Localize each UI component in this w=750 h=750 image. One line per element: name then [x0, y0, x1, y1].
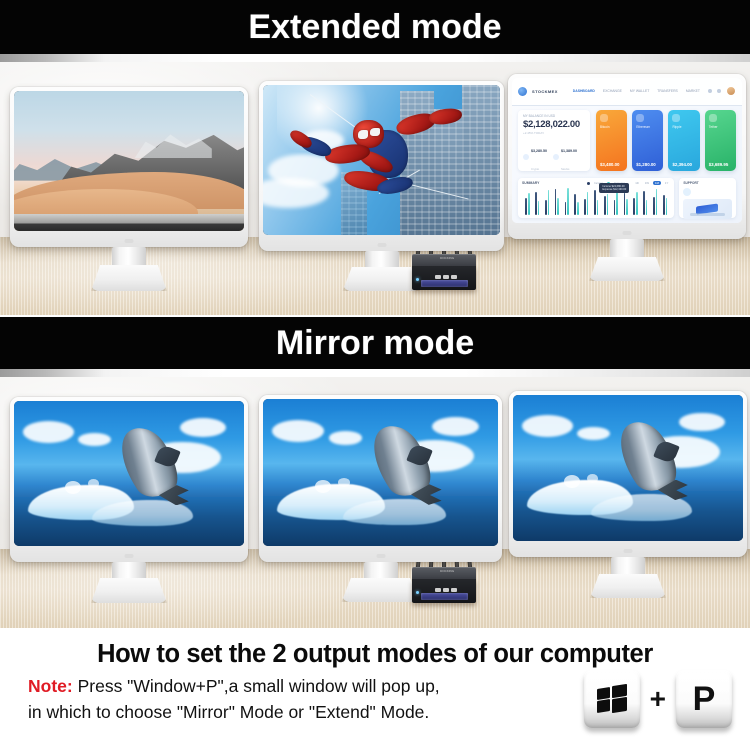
nav-item-dashboard[interactable]: DASHBOARD: [573, 89, 595, 93]
monitor-bezel: STOCKMEX DASHBOARD EXCHANGE MY WALLET TR…: [508, 74, 746, 239]
footer-note: Note: Press "Window+P",a small window wi…: [28, 676, 440, 723]
note-line-1: Note: Press "Window+P",a small window wi…: [28, 676, 440, 697]
monitor-screen-dashboard[interactable]: STOCKMEX DASHBOARD EXCHANGE MY WALLET TR…: [512, 78, 742, 223]
dashboard-nav[interactable]: DASHBOARD EXCHANGE MY WALLET TRANSFERS M…: [573, 89, 700, 93]
kvm-top-panel: DOCKING: [412, 567, 476, 579]
dashboard-topbar-icons[interactable]: [708, 86, 736, 96]
extended-mode-title: Extended mode: [248, 10, 501, 44]
support-illustration: [683, 199, 732, 219]
monitor-bezel: [259, 81, 504, 251]
chart-bars: [522, 185, 670, 215]
kvm-switch-mirror: DOCKING: [412, 567, 476, 603]
mini-stats: $3,280.50 Crypto $1,389.00 Stocks: [523, 139, 585, 175]
spiderman-wallpaper: [263, 85, 500, 235]
monitor-bezel: [259, 395, 502, 562]
building-3: [462, 85, 500, 235]
extended-mode-photo: STOCKMEX DASHBOARD EXCHANGE MY WALLET TR…: [0, 62, 750, 315]
dolphin-wallpaper: [14, 401, 244, 546]
kvm-brand-label: DOCKING: [440, 256, 454, 260]
monitor-logo: [125, 554, 134, 558]
note-label: Note:: [28, 676, 73, 696]
chart-bar-group: [553, 188, 560, 215]
spray-2: [88, 479, 100, 488]
monitor-logo: [624, 549, 633, 553]
chart-bar: [624, 193, 626, 215]
power-led: [416, 591, 419, 594]
support-card[interactable]: SUPPORT: [679, 178, 736, 218]
monitor-logo: [623, 231, 632, 235]
chart-bar-group: [662, 188, 669, 215]
footer-title: How to set the 2 output modes of our com…: [0, 640, 750, 669]
chart-bar: [525, 198, 527, 215]
mini-stat-stocks: $1,389.00 Stocks: [553, 139, 577, 175]
monitor-bezel: [509, 391, 747, 557]
chart-bar: [545, 200, 547, 215]
monitor-bezel: [10, 87, 248, 247]
asset-card-ripple[interactable]: Ripple $2,394.00: [668, 110, 699, 172]
balance-amount: $2,128,022.00: [523, 119, 585, 130]
chart-bar: [577, 202, 579, 215]
coin-icon: [523, 154, 529, 160]
chart-bar: [567, 188, 569, 215]
power-led: [416, 278, 419, 281]
mirror-mode-banner: Mirror mode: [0, 317, 750, 369]
kvm-brand-label: DOCKING: [440, 569, 454, 573]
footer-instructions: How to set the 2 output modes of our com…: [0, 628, 750, 750]
monitor-logo: [125, 239, 134, 243]
chart-bar: [557, 198, 559, 215]
spiderman-eye-left: [358, 130, 368, 139]
note-text-1: Press "Window+P",a small window will pop…: [73, 676, 440, 696]
brand-name: STOCKMEX: [532, 89, 558, 94]
bell-icon[interactable]: [717, 89, 721, 93]
kvm-top-panel: DOCKING: [412, 254, 476, 266]
cloud-3: [679, 413, 725, 432]
mountain-snow: [120, 133, 212, 158]
cloud-3: [432, 417, 479, 436]
cloud-4: [329, 431, 362, 444]
nav-item-market[interactable]: MARKET: [686, 89, 700, 93]
chart-bar: [597, 200, 599, 215]
chart-bar-group: [524, 188, 531, 215]
tooltip-line-expense: Expense $12,430.00: [602, 188, 626, 191]
mirror-mode-title: Mirror mode: [276, 326, 474, 360]
asset-card-tether[interactable]: Tether $3,689.95: [705, 110, 736, 172]
chart-bar: [538, 201, 540, 215]
cloud-2: [263, 178, 329, 208]
chart-bar: [535, 192, 537, 215]
mini-stat-value: $3,280.50: [531, 149, 547, 153]
cloud-1: [272, 420, 324, 442]
monitor-screen-dolphin: [14, 401, 244, 546]
extended-mode-banner: Extended mode: [0, 0, 750, 54]
monitor-screen-spiderman: [263, 85, 500, 235]
nav-item-exchange[interactable]: EXCHANGE: [603, 89, 622, 93]
spray-1: [65, 481, 81, 494]
kvm-ports: [421, 280, 468, 286]
avatar[interactable]: [726, 86, 736, 96]
chart-bar: [614, 200, 616, 215]
balance-sub: +2.45% TODAY: [523, 131, 585, 135]
note-line-2: in which to choose "Mirror" Mode or "Ext…: [28, 702, 440, 723]
mini-stat-label: Stocks: [561, 167, 569, 171]
ethereum-icon: [636, 114, 644, 122]
chart-bar: [666, 198, 668, 215]
balance-card: MY BALANCE IN USD $2,128,022.00 +2.45% T…: [518, 110, 590, 172]
chart-tooltip: Income $24,680.00 Expense $12,430.00: [599, 183, 629, 193]
cloud-4: [577, 427, 609, 440]
chart-bar: [548, 190, 550, 215]
asset-value: $2,394.00: [672, 162, 695, 167]
chart-bar: [574, 194, 576, 215]
windows-logo-icon: [597, 685, 627, 713]
monitor-screen-dolphin: [263, 399, 498, 546]
dashboard-ui: STOCKMEX DASHBOARD EXCHANGE MY WALLET TR…: [512, 78, 742, 223]
dashboard-topbar: STOCKMEX DASHBOARD EXCHANGE MY WALLET TR…: [512, 78, 742, 106]
monitor-screen-mountain: [14, 91, 244, 231]
kvm-ports: [421, 593, 468, 599]
dolphin-wallpaper: [263, 399, 498, 546]
cloud-1: [23, 421, 74, 443]
mini-stat-crypto: $3,280.50 Crypto: [523, 139, 547, 175]
chart-icon: [553, 154, 559, 160]
monitor-screen-dolphin: [513, 395, 743, 541]
foreground-plain: [14, 214, 244, 231]
support-icon: [683, 188, 691, 196]
mirror-mode-photo: DOCKING: [0, 377, 750, 628]
asset-name: Ripple: [672, 125, 695, 129]
chart-bar-group: [642, 188, 649, 215]
chart-bar: [653, 197, 655, 215]
asset-name: Bitcoin: [600, 125, 623, 129]
kvm-buttons[interactable]: [435, 275, 457, 279]
chart-bar: [633, 198, 635, 215]
kvm-front-panel: [412, 266, 476, 290]
p-key-label: P: [693, 682, 716, 716]
asset-value: $3,480.00: [600, 162, 623, 167]
asset-value: $3,689.95: [709, 162, 732, 167]
ripple-icon: [672, 114, 680, 122]
balance-label: MY BALANCE IN USD: [523, 114, 585, 118]
monitor-bezel: [10, 397, 248, 562]
chart-bar-group: [583, 188, 590, 215]
tether-icon: [709, 114, 717, 122]
asset-name: Tether: [709, 125, 732, 129]
chart-bar: [636, 192, 638, 215]
monitor-logo: [376, 554, 385, 558]
dashboard-bottom: SUMMARY Income Expense 1D 1W: [512, 175, 742, 223]
chart-bar: [555, 189, 557, 215]
support-title: SUPPORT: [683, 181, 732, 185]
monitor-base: [589, 257, 665, 281]
spray-1: [315, 480, 331, 493]
asset-card-bitcoin[interactable]: Bitcoin $3,480.00: [596, 110, 627, 172]
monitor-base: [343, 267, 421, 291]
chart-bar: [587, 192, 589, 215]
chart-bar: [604, 196, 606, 215]
chart-bar-group: [632, 188, 639, 215]
windows-key[interactable]: [584, 670, 640, 728]
mini-stat-label: Crypto: [531, 167, 539, 171]
chart-bar: [607, 194, 609, 215]
chart-bar: [663, 195, 665, 215]
monitor-base: [590, 574, 666, 598]
summary-chart-card: SUMMARY Income Expense 1D 1W: [518, 178, 674, 218]
spray-2: [587, 474, 599, 483]
chart-bar: [565, 202, 567, 215]
cloud-1: [522, 415, 573, 437]
nav-item-wallet[interactable]: MY WALLET: [630, 89, 649, 93]
spiderman-eye-right: [370, 128, 380, 136]
asset-value: $1,280.00: [636, 162, 659, 167]
monitor-logo: [377, 243, 386, 247]
chart-bar: [584, 199, 586, 215]
bitcoin-icon: [600, 114, 608, 122]
mini-stat-value: $1,389.00: [561, 149, 577, 153]
chart-bar-group: [573, 188, 580, 215]
chart-bar-group: [544, 188, 551, 215]
monitor-base: [342, 578, 420, 602]
chart-bar-group: [652, 188, 659, 215]
search-icon[interactable]: [708, 89, 712, 93]
chart-bar: [656, 189, 658, 215]
chart-bar-group: [563, 188, 570, 215]
chart-bar: [528, 193, 530, 215]
chart-bar: [616, 189, 618, 215]
chart-bar: [643, 191, 645, 215]
chart-bar-group: [534, 188, 541, 215]
asset-name: Ethereum: [636, 125, 659, 129]
nav-item-transfers[interactable]: TRANSFERS: [657, 89, 678, 93]
cloud-3: [180, 418, 226, 437]
plus-sign: +: [650, 683, 666, 715]
monitor-base: [91, 578, 167, 603]
kvm-buttons[interactable]: [435, 588, 457, 592]
keyboard-shortcut: + P: [584, 670, 732, 728]
cloud-4: [78, 433, 110, 446]
mountain-wallpaper: [14, 91, 244, 231]
p-key[interactable]: P: [676, 670, 732, 728]
chart-bar: [626, 199, 628, 215]
monitor-base: [91, 265, 167, 291]
building-2: [434, 109, 462, 235]
dashboard-body: MY BALANCE IN USD $2,128,022.00 +2.45% T…: [512, 106, 742, 176]
brand-logo-icon: [518, 87, 527, 96]
asset-card-ethereum[interactable]: Ethereum $1,280.00: [632, 110, 663, 172]
dolphin-wallpaper: [513, 395, 743, 541]
asset-cards: Bitcoin $3,480.00 Ethereum $1,280.00: [596, 110, 736, 172]
chart-bar: [646, 200, 648, 215]
chart-bar: [594, 190, 596, 215]
kvm-switch-extended: DOCKING: [412, 254, 476, 290]
kvm-front-panel: [412, 579, 476, 603]
product-infographic: Extended mode: [0, 0, 750, 750]
